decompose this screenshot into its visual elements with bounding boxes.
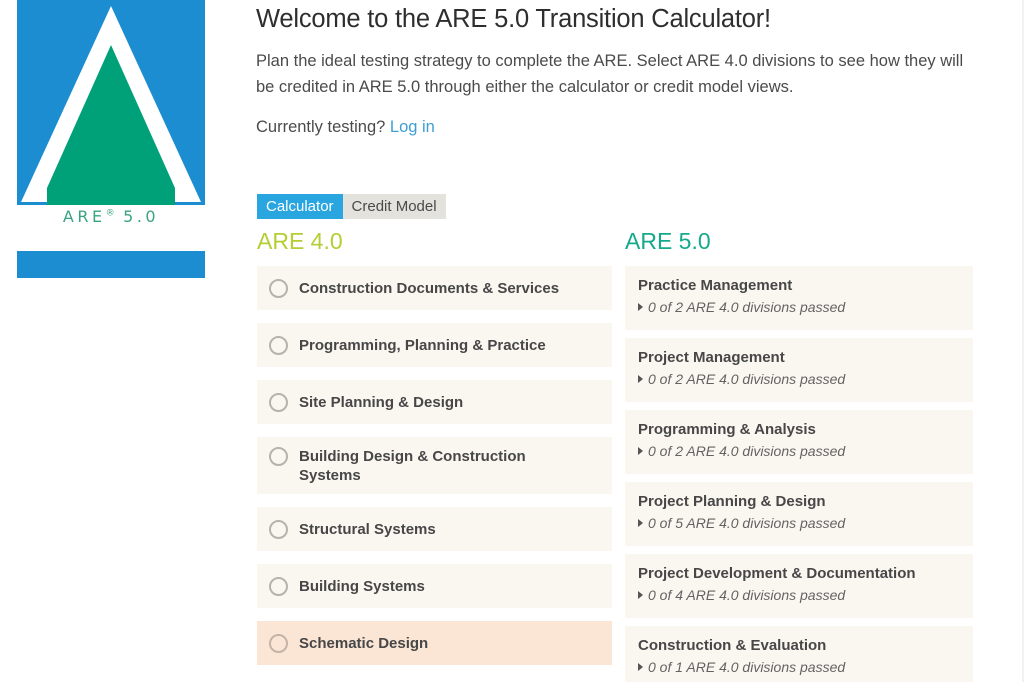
- are-5-0-column: ARE 5.0 Practice Management 0 of 2 ARE 4…: [625, 230, 973, 682]
- login-prompt-text: Currently testing?: [256, 118, 385, 136]
- division-label: Site Planning & Design: [299, 393, 463, 412]
- division-status[interactable]: 0 of 2 ARE 4.0 divisions passed: [638, 368, 961, 389]
- are-4-0-division-row[interactable]: Site Planning & Design: [257, 380, 612, 424]
- division-status-text: 0 of 4 ARE 4.0 divisions passed: [648, 585, 845, 605]
- division-label: Building Design & Construction Systems: [299, 447, 549, 485]
- division-status-text: 0 of 2 ARE 4.0 divisions passed: [648, 369, 845, 389]
- division-title: Construction & Evaluation: [638, 636, 961, 656]
- radio-unchecked-icon[interactable]: [269, 336, 288, 355]
- logo-green-triangle-icon: [47, 45, 175, 188]
- division-status-text: 0 of 2 ARE 4.0 divisions passed: [648, 441, 845, 461]
- are-5-0-division-row[interactable]: Project Management 0 of 2 ARE 4.0 divisi…: [625, 338, 973, 402]
- log-in-link[interactable]: Log in: [390, 118, 435, 136]
- view-toggle: Calculator Credit Model: [257, 194, 446, 219]
- disclosure-triangle-icon[interactable]: [638, 303, 643, 311]
- disclosure-triangle-icon[interactable]: [638, 663, 643, 671]
- radio-unchecked-icon[interactable]: [269, 577, 288, 596]
- page-title: Welcome to the ARE 5.0 Transition Calcul…: [256, 0, 1022, 36]
- are-4-0-division-row[interactable]: Building Systems: [257, 564, 612, 608]
- division-title: Project Management: [638, 348, 961, 368]
- logo-green-base: [47, 188, 175, 205]
- division-title: Programming & Analysis: [638, 420, 961, 440]
- are-4-0-division-row[interactable]: Structural Systems: [257, 507, 612, 551]
- are-4-0-division-row[interactable]: Building Design & Construction Systems: [257, 437, 612, 494]
- are-4-0-heading: ARE 4.0: [257, 230, 612, 266]
- radio-unchecked-icon[interactable]: [269, 279, 288, 298]
- are-4-0-division-row[interactable]: Programming, Planning & Practice: [257, 323, 612, 367]
- division-title: Project Planning & Design: [638, 492, 961, 512]
- division-status[interactable]: 0 of 5 ARE 4.0 divisions passed: [638, 512, 961, 533]
- are-5-0-division-row[interactable]: Programming & Analysis 0 of 2 ARE 4.0 di…: [625, 410, 973, 474]
- division-status[interactable]: 0 of 2 ARE 4.0 divisions passed: [638, 440, 961, 461]
- logo-wordmark: ARE® 5.0: [17, 207, 205, 226]
- division-title: Project Development & Documentation: [638, 564, 961, 584]
- logo-wordmark-are: ARE: [63, 207, 106, 226]
- division-label: Building Systems: [299, 577, 425, 596]
- division-status-text: 0 of 2 ARE 4.0 divisions passed: [648, 297, 845, 317]
- are-4-0-column: ARE 4.0 Construction Documents & Service…: [257, 230, 612, 678]
- division-status-text: 0 of 1 ARE 4.0 divisions passed: [648, 657, 845, 677]
- are-4-0-division-row[interactable]: Construction Documents & Services: [257, 266, 612, 310]
- are-5-0-division-row[interactable]: Construction & Evaluation 0 of 1 ARE 4.0…: [625, 626, 973, 682]
- logo-wordmark-version: 5.0: [123, 207, 159, 226]
- division-label: Construction Documents & Services: [299, 279, 559, 298]
- logo-blue-square: [17, 0, 205, 205]
- disclosure-triangle-icon[interactable]: [638, 519, 643, 527]
- division-title: Practice Management: [638, 276, 961, 296]
- division-status[interactable]: 0 of 2 ARE 4.0 divisions passed: [638, 296, 961, 317]
- division-status-text: 0 of 5 ARE 4.0 divisions passed: [648, 513, 845, 533]
- disclosure-triangle-icon[interactable]: [638, 375, 643, 383]
- division-label: Schematic Design: [299, 634, 428, 653]
- disclosure-triangle-icon[interactable]: [638, 591, 643, 599]
- logo-registered-icon: ®: [106, 209, 115, 219]
- are-5-0-division-row[interactable]: Project Development & Documentation 0 of…: [625, 554, 973, 618]
- divisions-columns: ARE 4.0 Construction Documents & Service…: [0, 230, 1022, 682]
- are-5-0-division-row[interactable]: Practice Management 0 of 2 ARE 4.0 divis…: [625, 266, 973, 330]
- are-5-0-heading: ARE 5.0: [625, 230, 973, 266]
- disclosure-triangle-icon[interactable]: [638, 447, 643, 455]
- division-label: Programming, Planning & Practice: [299, 336, 546, 355]
- division-label: Structural Systems: [299, 520, 436, 539]
- tab-credit-model[interactable]: Credit Model: [343, 194, 446, 219]
- radio-unchecked-icon[interactable]: [269, 447, 288, 466]
- division-status[interactable]: 0 of 1 ARE 4.0 divisions passed: [638, 656, 961, 677]
- radio-unchecked-icon[interactable]: [269, 393, 288, 412]
- radio-unchecked-icon[interactable]: [269, 520, 288, 539]
- are-5-0-division-row[interactable]: Project Planning & Design 0 of 5 ARE 4.0…: [625, 482, 973, 546]
- division-status[interactable]: 0 of 4 ARE 4.0 divisions passed: [638, 584, 961, 605]
- intro-paragraph: Plan the ideal testing strategy to compl…: [256, 36, 968, 100]
- are-4-0-division-row[interactable]: Schematic Design: [257, 621, 612, 665]
- login-line: Currently testing? Log in: [256, 100, 1022, 137]
- page-root: ARE® 5.0 Welcome to the ARE 5.0 Transiti…: [0, 0, 1024, 682]
- tab-calculator[interactable]: Calculator: [257, 194, 343, 219]
- radio-unchecked-icon[interactable]: [269, 634, 288, 653]
